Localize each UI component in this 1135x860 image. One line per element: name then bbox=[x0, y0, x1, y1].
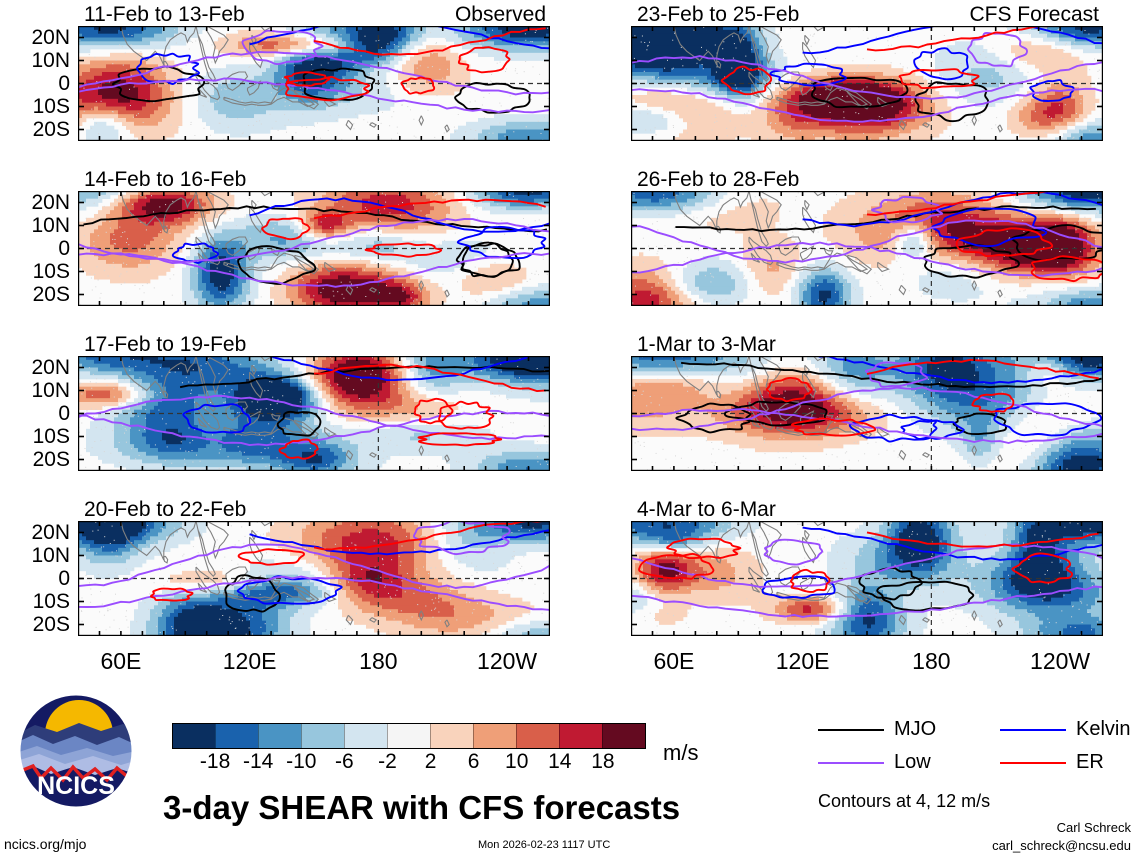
y-axis-tick-label: 20N bbox=[4, 357, 70, 378]
legend-label: Kelvin x2 bbox=[1076, 719, 1135, 739]
y-axis-tick-label: 10S bbox=[4, 96, 70, 117]
y-axis-tick-label: 10S bbox=[4, 261, 70, 282]
legend-line-swatch bbox=[1000, 762, 1066, 764]
map-panel bbox=[78, 521, 550, 641]
map-panel bbox=[78, 26, 550, 146]
x-axis-tick-label: 180 bbox=[881, 650, 981, 673]
colorbar-units: m/s bbox=[663, 740, 698, 766]
legend-label: ER bbox=[1076, 752, 1104, 772]
y-axis-tick-label: 10S bbox=[4, 591, 70, 612]
legend-line-swatch bbox=[818, 762, 884, 764]
map-panel bbox=[78, 191, 550, 311]
colorbar-segment bbox=[516, 724, 559, 748]
y-axis-tick-label: 0 bbox=[4, 238, 70, 259]
legend-label: Low bbox=[894, 752, 931, 772]
legend-line-swatch bbox=[818, 729, 884, 731]
colorbar-segment bbox=[559, 724, 602, 748]
panel-title: 20-Feb to 22-Feb bbox=[84, 499, 246, 520]
footer-timestamp: Mon 2026-02-23 1117 UTC bbox=[478, 839, 610, 851]
ncics-logo[interactable]: NCICS bbox=[17, 692, 135, 810]
x-axis-tick-label: 120E bbox=[200, 650, 300, 673]
y-axis-tick-label: 20N bbox=[4, 522, 70, 543]
colorbar-segment bbox=[215, 724, 258, 748]
panel-title: 17-Feb to 19-Feb bbox=[84, 334, 246, 355]
x-axis-tick-label: 60E bbox=[624, 650, 724, 673]
column-header-forecast: CFS Forecast bbox=[631, 4, 1099, 25]
colorbar: -18-14-10-6-226101418 bbox=[172, 723, 646, 749]
main-title: 3-day SHEAR with CFS forecasts bbox=[163, 789, 680, 827]
y-axis-tick-label: 10N bbox=[4, 215, 70, 236]
x-axis-tick-label: 120E bbox=[753, 650, 853, 673]
y-axis-tick-label: 0 bbox=[4, 403, 70, 424]
logo-text: NCICS bbox=[37, 772, 115, 800]
map-panel bbox=[78, 356, 550, 476]
footer-site-link[interactable]: ncics.org/mjo bbox=[4, 836, 86, 852]
y-axis-tick-label: 10N bbox=[4, 545, 70, 566]
column-header-observed: Observed bbox=[78, 4, 546, 25]
map-panel bbox=[631, 356, 1103, 476]
colorbar-strip bbox=[172, 723, 646, 749]
legend-label: MJO bbox=[894, 719, 936, 739]
y-axis-tick-label: 20S bbox=[4, 449, 70, 470]
y-axis-tick-label: 20S bbox=[4, 284, 70, 305]
y-axis-tick-label: 10N bbox=[4, 380, 70, 401]
y-axis-tick-label: 20S bbox=[4, 119, 70, 140]
x-axis-tick-label: 180 bbox=[328, 650, 428, 673]
author-email[interactable]: carl_schreck@ncsu.edu bbox=[992, 838, 1131, 853]
panel-title: 14-Feb to 16-Feb bbox=[84, 169, 246, 190]
colorbar-segment bbox=[602, 724, 645, 748]
colorbar-segment bbox=[473, 724, 516, 748]
x-axis-tick-label: 120W bbox=[1010, 650, 1110, 673]
panel-title: 1-Mar to 3-Mar bbox=[637, 334, 776, 355]
y-axis-tick-label: 0 bbox=[4, 73, 70, 94]
y-axis-tick-label: 10S bbox=[4, 426, 70, 447]
map-panel bbox=[631, 521, 1103, 641]
y-axis-tick-label: 0 bbox=[4, 568, 70, 589]
y-axis-tick-label: 10N bbox=[4, 50, 70, 71]
colorbar-segment bbox=[301, 724, 344, 748]
panel-title: 26-Feb to 28-Feb bbox=[637, 169, 799, 190]
author-name: Carl Schreck bbox=[1057, 820, 1131, 835]
colorbar-segment bbox=[344, 724, 387, 748]
y-axis-tick-label: 20N bbox=[4, 192, 70, 213]
map-panel bbox=[631, 26, 1103, 146]
colorbar-tick-label: 18 bbox=[575, 751, 631, 772]
legend-line-swatch bbox=[1000, 729, 1066, 731]
x-axis-tick-label: 120W bbox=[457, 650, 557, 673]
colorbar-segment bbox=[387, 724, 430, 748]
contours-note: Contours at 4, 12 m/s bbox=[818, 791, 990, 812]
y-axis-tick-label: 20S bbox=[4, 614, 70, 635]
y-axis-tick-label: 20N bbox=[4, 27, 70, 48]
colorbar-segment bbox=[430, 724, 473, 748]
colorbar-segment bbox=[258, 724, 301, 748]
colorbar-segment bbox=[173, 724, 215, 748]
panel-title: 4-Mar to 6-Mar bbox=[637, 499, 776, 520]
x-axis-tick-label: 60E bbox=[71, 650, 171, 673]
map-panel bbox=[631, 191, 1103, 311]
